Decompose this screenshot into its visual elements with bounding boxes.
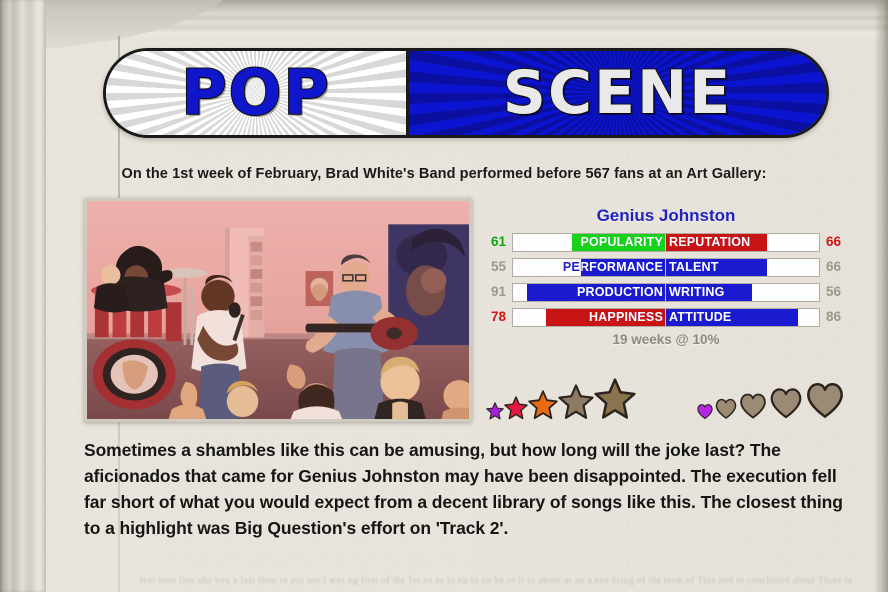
stat-row: 78HAPPINESSHAPPINESSATTITUDEATTITUDE86 [486, 307, 846, 327]
star-rating [486, 378, 636, 420]
heart-icon [768, 384, 804, 420]
stat-value-right: 56 [820, 282, 846, 302]
heart-rating [696, 378, 846, 420]
magazine-page: text here line nbr you a last thun se pu… [0, 0, 888, 592]
review-text: Sometimes a shambles like this can be am… [84, 437, 848, 541]
stat-value-left: 78 [486, 307, 512, 327]
masthead-right-panel: SCENE [406, 51, 826, 135]
gig-photo [84, 198, 472, 422]
ratings-row [486, 362, 846, 420]
stat-bar-right: REPUTATIONREPUTATION [666, 234, 819, 251]
stat-bar-left: PRODUCTIONPRODUCTION [513, 284, 666, 301]
stat-bar-pair: HAPPINESSHAPPINESSATTITUDEATTITUDE [512, 308, 820, 327]
star-icon [504, 396, 528, 420]
heart-icon [714, 396, 738, 420]
page-stack-top [0, 0, 888, 40]
page-right-edge [874, 0, 888, 592]
stat-value-right: 66 [820, 232, 846, 252]
stat-value-left: 55 [486, 257, 512, 277]
gig-photo-illustration [87, 201, 469, 419]
stat-value-left: 91 [486, 282, 512, 302]
stat-row: 91PRODUCTIONPRODUCTIONWRITINGWRITING56 [486, 282, 846, 302]
heart-icon [738, 390, 768, 420]
weeks-on-chart: 19 weeks @ 10% [486, 332, 846, 347]
star-icon [528, 390, 558, 420]
stat-bar-right: ATTITUDEATTITUDE [666, 309, 819, 326]
stat-bar-right: WRITINGWRITING [666, 284, 819, 301]
star-icon [558, 384, 594, 420]
stat-bar-pair: PERFORMANCEPERFORMANCETALENTTALENT [512, 258, 820, 277]
stat-bar-pair: POPULARITYPOPULARITYREPUTATIONREPUTATION [512, 233, 820, 252]
stat-bar-left: PERFORMANCEPERFORMANCE [513, 259, 666, 276]
band-name: Genius Johnston [486, 206, 846, 226]
star-icon [594, 378, 636, 420]
stat-value-right: 86 [820, 307, 846, 327]
stat-value-right: 66 [820, 257, 846, 277]
stat-rows-container: 61POPULARITYPOPULARITYREPUTATIONREPUTATI… [486, 232, 846, 327]
stat-label-right: ATTITUDE [666, 309, 819, 326]
popscene-masthead-logo: POP SCENE [103, 48, 829, 138]
stat-row: 61POPULARITYPOPULARITYREPUTATIONREPUTATI… [486, 232, 846, 252]
stat-label-left: PRODUCTION [513, 284, 665, 301]
band-stats-panel: Genius Johnston 61POPULARITYPOPULARITYRE… [486, 206, 846, 347]
star-icon [486, 402, 504, 420]
background-newsprint-text: text here line nbr you a last thun se pu… [140, 573, 860, 588]
stat-bar-left: HAPPINESSHAPPINESS [513, 309, 666, 326]
stat-value-left: 61 [486, 232, 512, 252]
heart-icon [804, 378, 846, 420]
stat-bar-pair: PRODUCTIONPRODUCTIONWRITINGWRITING [512, 283, 820, 302]
stat-row: 55PERFORMANCEPERFORMANCETALENTTALENT66 [486, 257, 846, 277]
heart-icon [696, 402, 714, 420]
masthead-word-scene: SCENE [503, 63, 732, 123]
masthead-left-panel: POP [106, 51, 406, 135]
masthead-word-pop: POP [181, 62, 331, 124]
page-spine [0, 0, 46, 592]
page-curl-corner [0, 0, 240, 52]
stat-bar-right: TALENTTALENT [666, 259, 819, 276]
stat-bar-left: POPULARITYPOPULARITY [513, 234, 666, 251]
gig-headline: On the 1st week of February, Brad White'… [0, 166, 888, 182]
